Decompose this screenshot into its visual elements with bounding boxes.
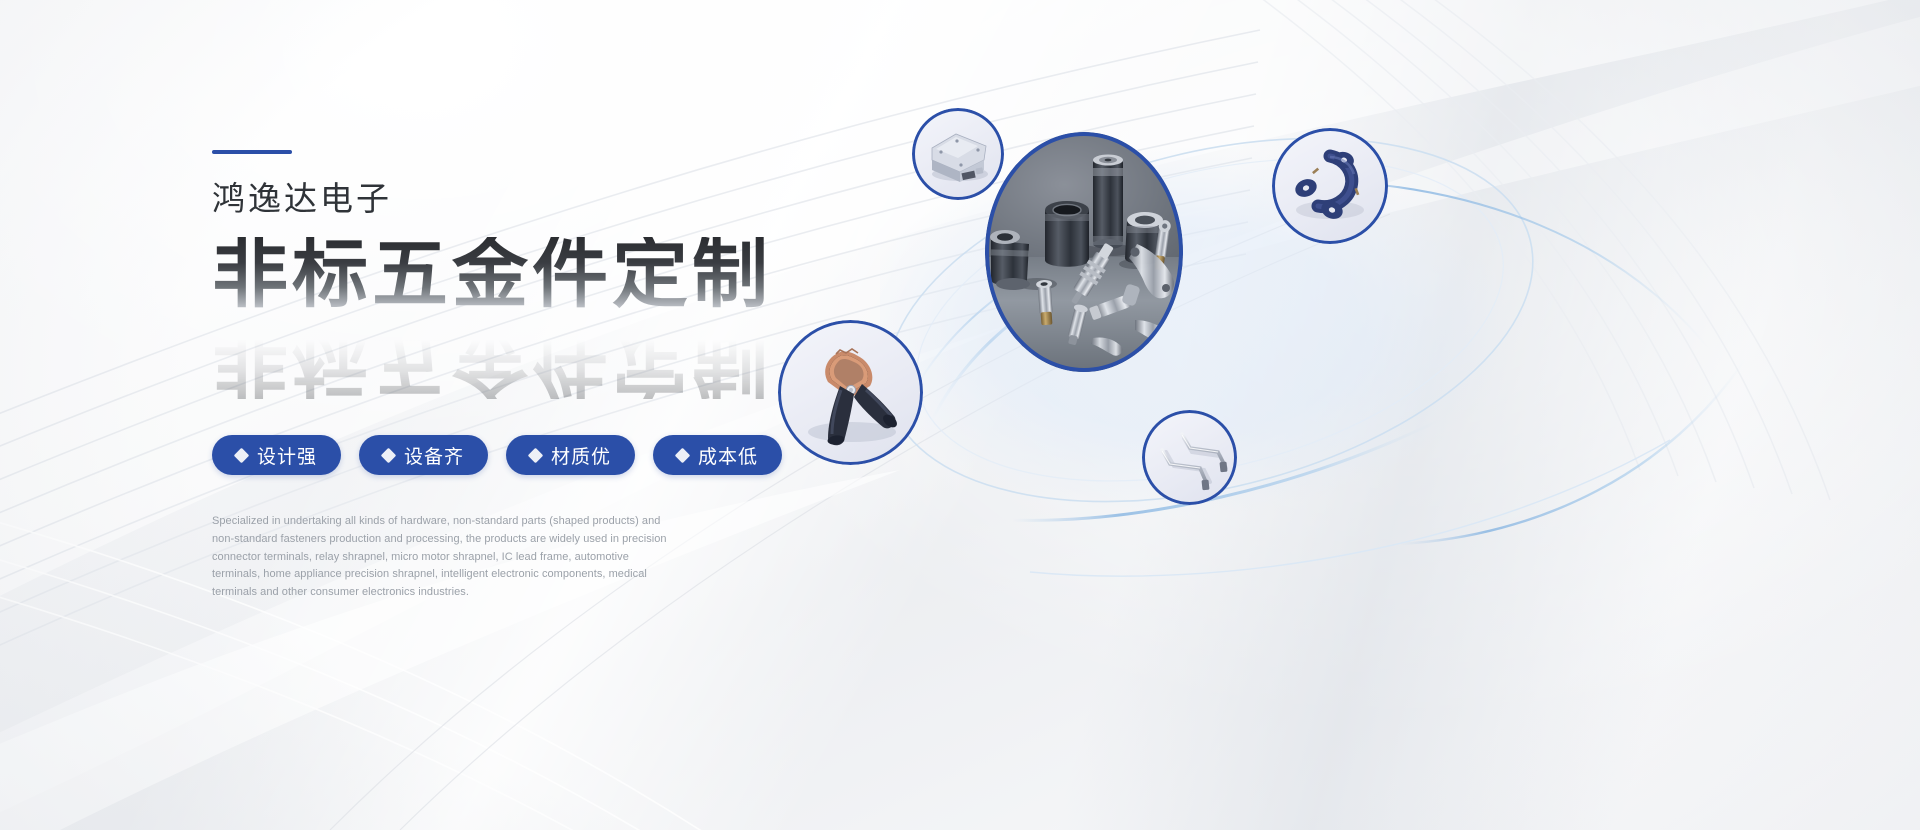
feature-tag-material[interactable]: 材质优 [506, 435, 635, 475]
bubble-bent-terminal-pins[interactable] [1142, 410, 1237, 505]
brand-name: 鸿逸达电子 [212, 182, 972, 215]
diamond-icon [528, 447, 544, 463]
bubble-battery-clamp[interactable] [778, 320, 923, 465]
page-title: 非标五金件定制 [212, 237, 772, 313]
bubble-image-retaining-ring [1272, 128, 1388, 244]
bubble-image-battery-clamp [778, 320, 923, 465]
banner-stage: 鸿逸达电子 非标五金件定制 非标五金件定制 设计强 设备齐 材质优 成本低 [0, 0, 1920, 830]
bubble-precision-machined-parts[interactable] [985, 132, 1183, 372]
product-showcase [880, 120, 1840, 600]
bubble-image-precision-parts [985, 132, 1183, 372]
accent-bar [212, 150, 292, 154]
feature-tag-equipment[interactable]: 设备齐 [359, 435, 488, 475]
description-paragraph: Specialized in undertaking all kinds of … [212, 513, 672, 602]
feature-tag-label: 成本低 [698, 442, 758, 469]
feature-tag-label: 设计强 [257, 442, 317, 469]
feature-tag-label: 设备齐 [404, 442, 464, 469]
headline-reflection: 非标五金件定制 [212, 323, 772, 399]
feature-tag-label: 材质优 [551, 442, 611, 469]
diamond-icon [234, 447, 250, 463]
feature-tag-design[interactable]: 设计强 [212, 435, 341, 475]
bubble-retaining-ring[interactable] [1272, 128, 1388, 244]
diamond-icon [675, 447, 691, 463]
feature-tag-cost[interactable]: 成本低 [653, 435, 782, 475]
bubble-image-terminal-pins [1142, 410, 1237, 505]
diamond-icon [381, 447, 397, 463]
